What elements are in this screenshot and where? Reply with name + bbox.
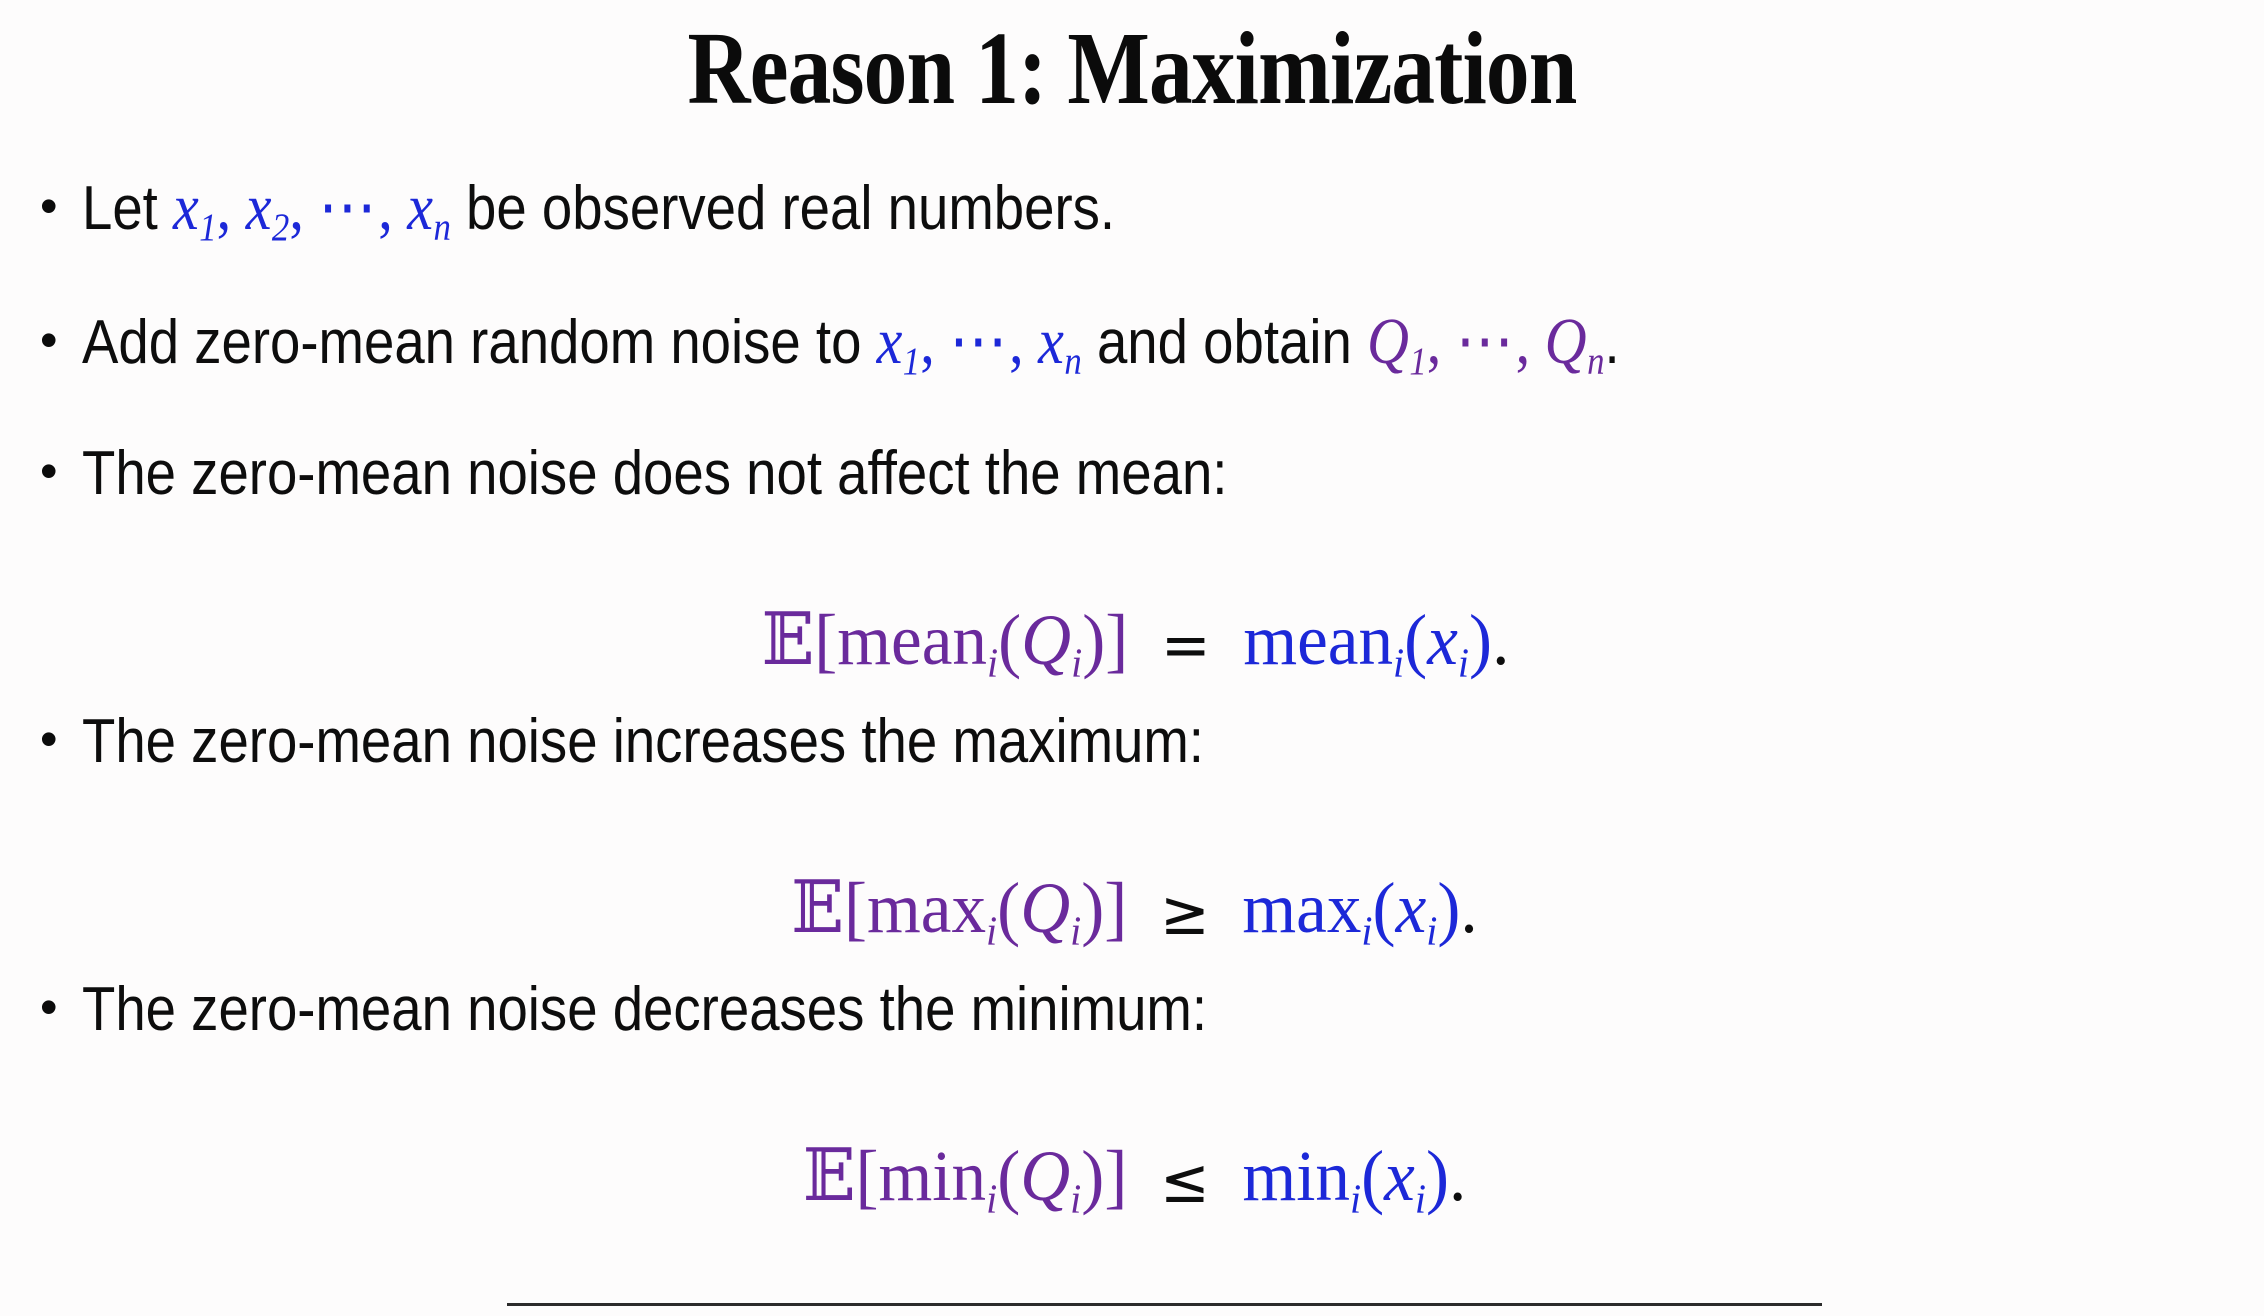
paren-open: ( [1373,868,1396,948]
bullet-text-run: The zero-mean noise decreases the minimu… [82,975,1207,1044]
lhs-variable: Q [1021,1136,1071,1216]
bullet-mean-unaffected: The zero-mean noise does not affect the … [82,443,1227,505]
bullet-item: •Let x1, x2, ⋯, xn be observed real numb… [40,175,2230,309]
bullet-min-decreases: The zero-mean noise decreases the minimu… [82,979,1207,1041]
math-subscript: 1 [199,205,216,249]
bracket-open: [ [856,1136,879,1216]
equation-terminator: . [1492,600,1509,680]
equation-row: 𝔼[maxi(Qi)]≥maxi(xi). [40,845,2230,979]
lhs-variable-index: i [1071,640,1082,686]
bullet-item: •The zero-mean noise increases the maxim… [40,711,2230,845]
math-comma: , [378,171,407,244]
math-variable: xn [1038,305,1082,378]
equation-mean: 𝔼[meani(Qi)]=meani(xi). [761,603,1509,685]
bracket-open: [ [814,600,837,680]
bracket-close: ] [1105,600,1128,680]
bullet-item: •The zero-mean noise does not affect the… [40,443,2230,577]
bullet-marker-icon: • [40,315,82,365]
math-ellipsis: ⋯ [949,305,1009,378]
bullet-marker-icon: • [40,982,82,1032]
equation-max: 𝔼[maxi(Qi)]≥maxi(xi). [792,871,1478,953]
equation-lhs: 𝔼[meani(Qi)] [761,600,1128,680]
paren-open: ( [998,1136,1021,1216]
bullet-marker-icon: • [40,181,82,231]
rhs-variable: x [1396,868,1427,948]
math-comma: , [1427,305,1456,378]
math-ellipsis: ⋯ [1456,305,1516,378]
slide-canvas: Reason 1: Maximization •Let x1, x2, ⋯, x… [0,0,2264,1316]
bullet-item: •The zero-mean noise decreases the minim… [40,979,2230,1113]
math-comma: , [289,171,318,244]
paren-open: ( [1404,600,1427,680]
math-subscript: n [1064,339,1081,383]
math-comma: , [1009,305,1038,378]
math-subscript: 1 [903,339,920,383]
equation-lhs: 𝔼[maxi(Qi)] [792,868,1128,948]
rhs-function-name: min [1243,1136,1351,1216]
rhs-function-name: max [1243,868,1362,948]
math-subscript: 1 [1409,339,1426,383]
equation-rhs: maxi(xi) [1243,868,1461,948]
math-subscript: n [433,205,450,249]
paren-open: ( [1362,1136,1385,1216]
math-subscript: n [1587,339,1604,383]
equation-relation: = [1128,609,1243,681]
bullet-add-noise: Add zero-mean random noise to x1, ⋯, xn … [82,309,1620,382]
rhs-function-name: mean [1243,600,1393,680]
equation-terminator: . [1461,868,1478,948]
equation-row: 𝔼[meani(Qi)]=meani(xi). [40,577,2230,711]
bullet-item: •Add zero-mean random noise to x1, ⋯, xn… [40,309,2230,443]
bracket-open: [ [844,868,867,948]
expectation-symbol: 𝔼 [792,865,845,949]
rhs-function-index: i [1393,640,1404,686]
math-variable: x1 [877,305,921,378]
paren-open: ( [998,600,1021,680]
lhs-variable: Q [1021,600,1071,680]
paren-close: ) [1082,868,1105,948]
math-variable: x1 [173,171,217,244]
paren-open: ( [998,868,1021,948]
paren-close: ) [1426,1136,1449,1216]
equation-min: 𝔼[mini(Qi)]≤mini(xi). [803,1139,1466,1221]
lhs-function-name: min [879,1136,987,1216]
bullet-max-increases: The zero-mean noise increases the maximu… [82,711,1204,773]
math-ellipsis: ⋯ [318,171,378,244]
lhs-variable: Q [1021,868,1071,948]
rhs-function-index: i [1350,1176,1361,1222]
page-title: Reason 1: Maximization [181,8,2083,131]
equation-relation: ≤ [1128,1145,1243,1217]
math-comma: , [217,171,246,244]
bracket-close: ] [1105,1136,1128,1216]
equation-row: 𝔼[mini(Qi)]≤mini(xi). [40,1113,2230,1247]
slide-body: •Let x1, x2, ⋯, xn be observed real numb… [40,175,2230,1247]
paren-close: ) [1082,600,1105,680]
bullet-marker-icon: • [40,714,82,764]
bullet-text-run: be observed real numbers. [451,174,1115,243]
bullet-marker-icon: • [40,446,82,496]
rhs-variable-index: i [1415,1176,1426,1222]
math-comma: , [1516,305,1545,378]
paren-close: ) [1469,600,1492,680]
bullet-text-run: The zero-mean noise does not affect the … [82,439,1227,508]
rhs-variable: x [1427,600,1458,680]
lhs-variable-index: i [1071,908,1082,954]
rhs-variable: x [1385,1136,1416,1216]
math-variable: Qn [1545,305,1605,378]
bracket-close: ] [1105,868,1128,948]
math-subscript: 2 [272,205,289,249]
bottom-divider-rule [507,1303,1822,1306]
bullet-text-run: The zero-mean noise increases the maximu… [82,707,1204,776]
expectation-symbol: 𝔼 [761,597,814,681]
bullet-text-run: . [1604,308,1619,377]
bullet-text-run: Add zero-mean random noise to [82,308,877,377]
math-variable: x2 [246,171,290,244]
lhs-function-name: mean [837,600,987,680]
bullet-text-run: and obtain [1082,308,1367,377]
paren-close: ) [1438,868,1461,948]
lhs-function-index: i [987,640,998,686]
expectation-symbol: 𝔼 [803,1133,856,1217]
bullet-text-run: Let [82,174,173,243]
equation-lhs: 𝔼[mini(Qi)] [803,1136,1128,1216]
rhs-variable-index: i [1427,908,1438,954]
paren-close: ) [1082,1136,1105,1216]
equation-rhs: meani(xi) [1243,600,1492,680]
math-variable: Q1 [1367,305,1427,378]
equation-relation: ≥ [1128,877,1243,949]
equation-terminator: . [1449,1136,1466,1216]
math-variable: xn [407,171,451,244]
math-comma: , [920,305,949,378]
rhs-variable-index: i [1457,640,1468,686]
lhs-function-index: i [987,1176,998,1222]
bullet-let-observed: Let x1, x2, ⋯, xn be observed real numbe… [82,175,1115,248]
lhs-function-name: max [868,868,987,948]
equation-rhs: mini(xi) [1243,1136,1450,1216]
lhs-variable-index: i [1071,1176,1082,1222]
